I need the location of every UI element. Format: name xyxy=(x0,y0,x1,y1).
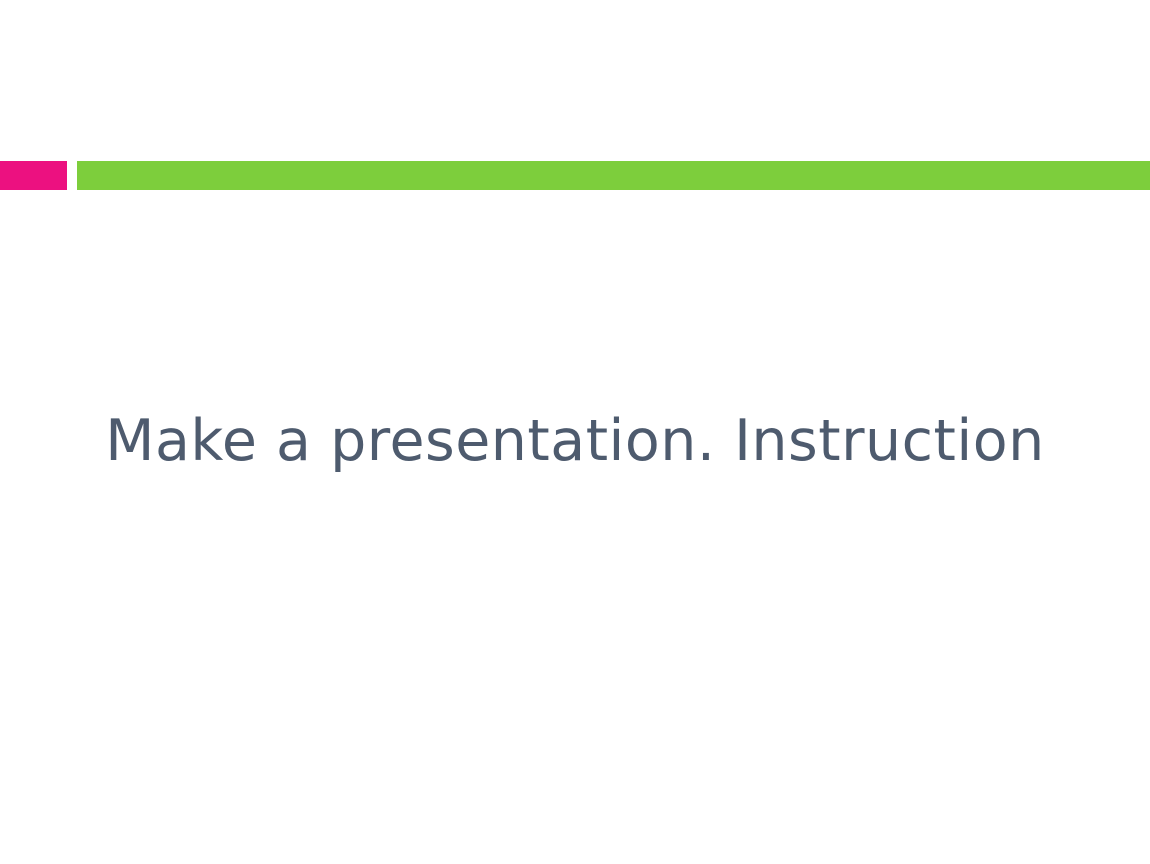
title-placeholder[interactable]: Make a presentation. Instruction xyxy=(0,392,1150,492)
accent-bar-green xyxy=(77,161,1150,190)
presentation-slide: Make a presentation. Instruction xyxy=(0,0,1150,864)
slide-title: Make a presentation. Instruction xyxy=(105,411,1044,473)
accent-square-pink xyxy=(0,161,67,190)
header-accent-band xyxy=(0,161,1150,190)
accent-band-gap xyxy=(67,161,77,190)
